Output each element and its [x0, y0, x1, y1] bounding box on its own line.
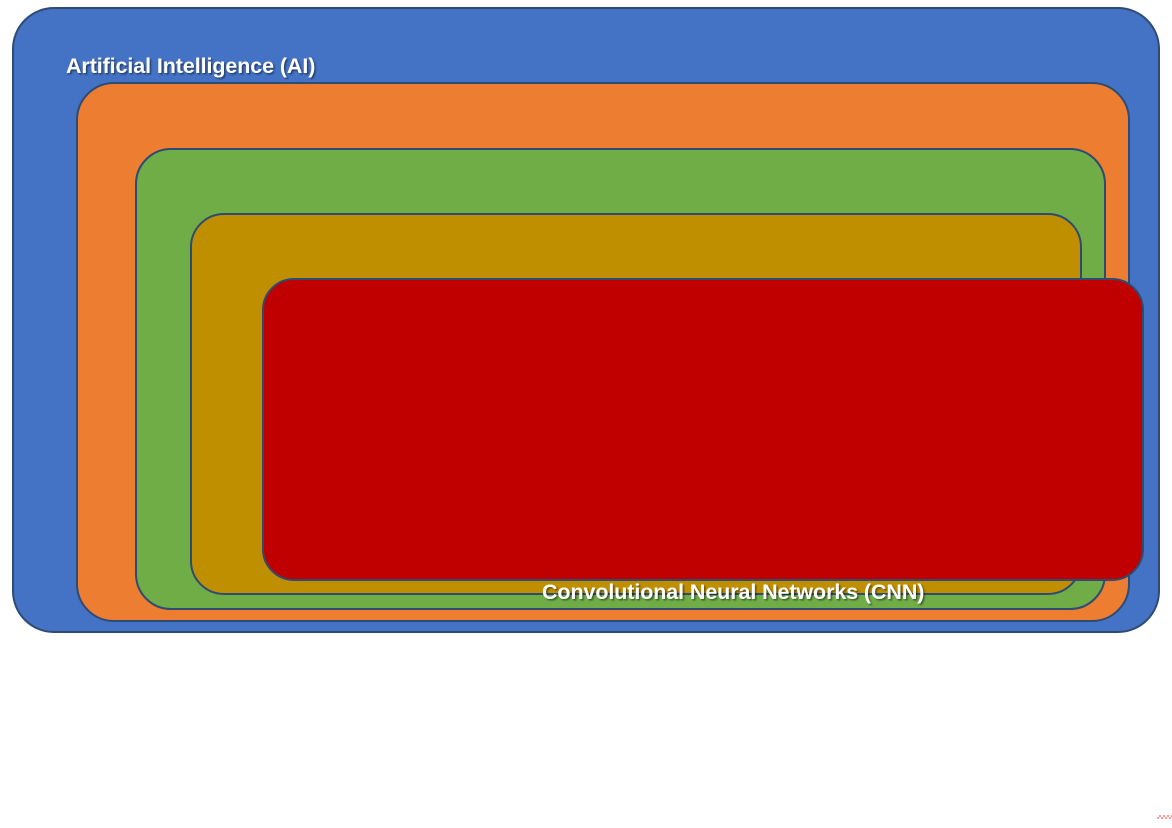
source-attribution: Source:Wikipedia: [1157, 795, 1172, 814]
nested-ai-hierarchy-diagram: Artificial Intelligence (AI) Machine Lea…: [0, 0, 1172, 648]
layer-label-artificial-intelligence: Artificial Intelligence (AI): [66, 54, 315, 79]
source-attribution-label: Source:Wikipedia: [1157, 795, 1172, 814]
spellcheck-squiggle-underline: [1157, 815, 1172, 819]
quote-line: in that the connectivity pattern between…: [540, 676, 1172, 714]
quote-line: “Convolutional networks were inspired by…: [540, 638, 1172, 676]
layer-convolutional-neural-networks: Convolutional Neural Networks (CNN) “Con…: [262, 278, 1144, 581]
quote-line: classification algorithms.”: [540, 790, 1172, 828]
layer-label-convolutional-neural-networks: Convolutional Neural Networks (CNN): [542, 580, 924, 605]
quote-line: relatively little pre-processing compare…: [540, 752, 1172, 790]
quote-line: the organization of the animal visual co…: [540, 714, 1172, 752]
cnn-quote-text: “Convolutional networks were inspired by…: [540, 638, 1172, 828]
